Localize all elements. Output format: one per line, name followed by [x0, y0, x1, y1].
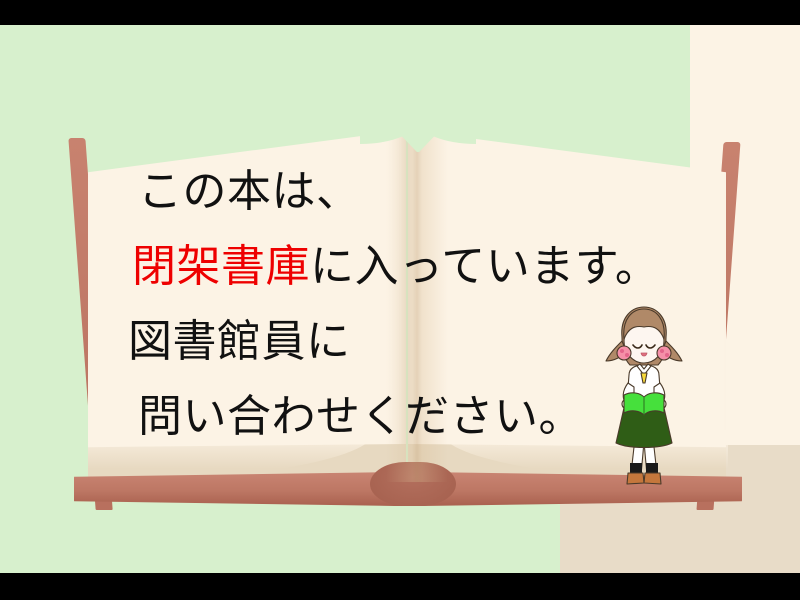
screenshot-stage: この本は、 閉架書庫に入っています。 図書館員に 問い合わせください。 — [0, 0, 800, 600]
notice-line-4: 問い合わせください。 — [138, 380, 583, 444]
notice-highlight-closed-stacks: 閉架書庫 — [132, 241, 310, 292]
notice-line-3: 図書館員に — [128, 305, 351, 369]
notice-line-1: この本は、 — [138, 155, 361, 219]
letterbox-bar-bottom — [0, 573, 800, 600]
girl-reading-book-illustration — [596, 303, 692, 495]
notice-line-2: 閉架書庫に入っています。 — [132, 230, 659, 294]
notice-line-2-suffix: に入っています。 — [310, 241, 659, 292]
green-backdrop: この本は、 閉架書庫に入っています。 図書館員に 問い合わせください。 — [0, 25, 800, 573]
letterbox-bar-top — [0, 0, 800, 25]
